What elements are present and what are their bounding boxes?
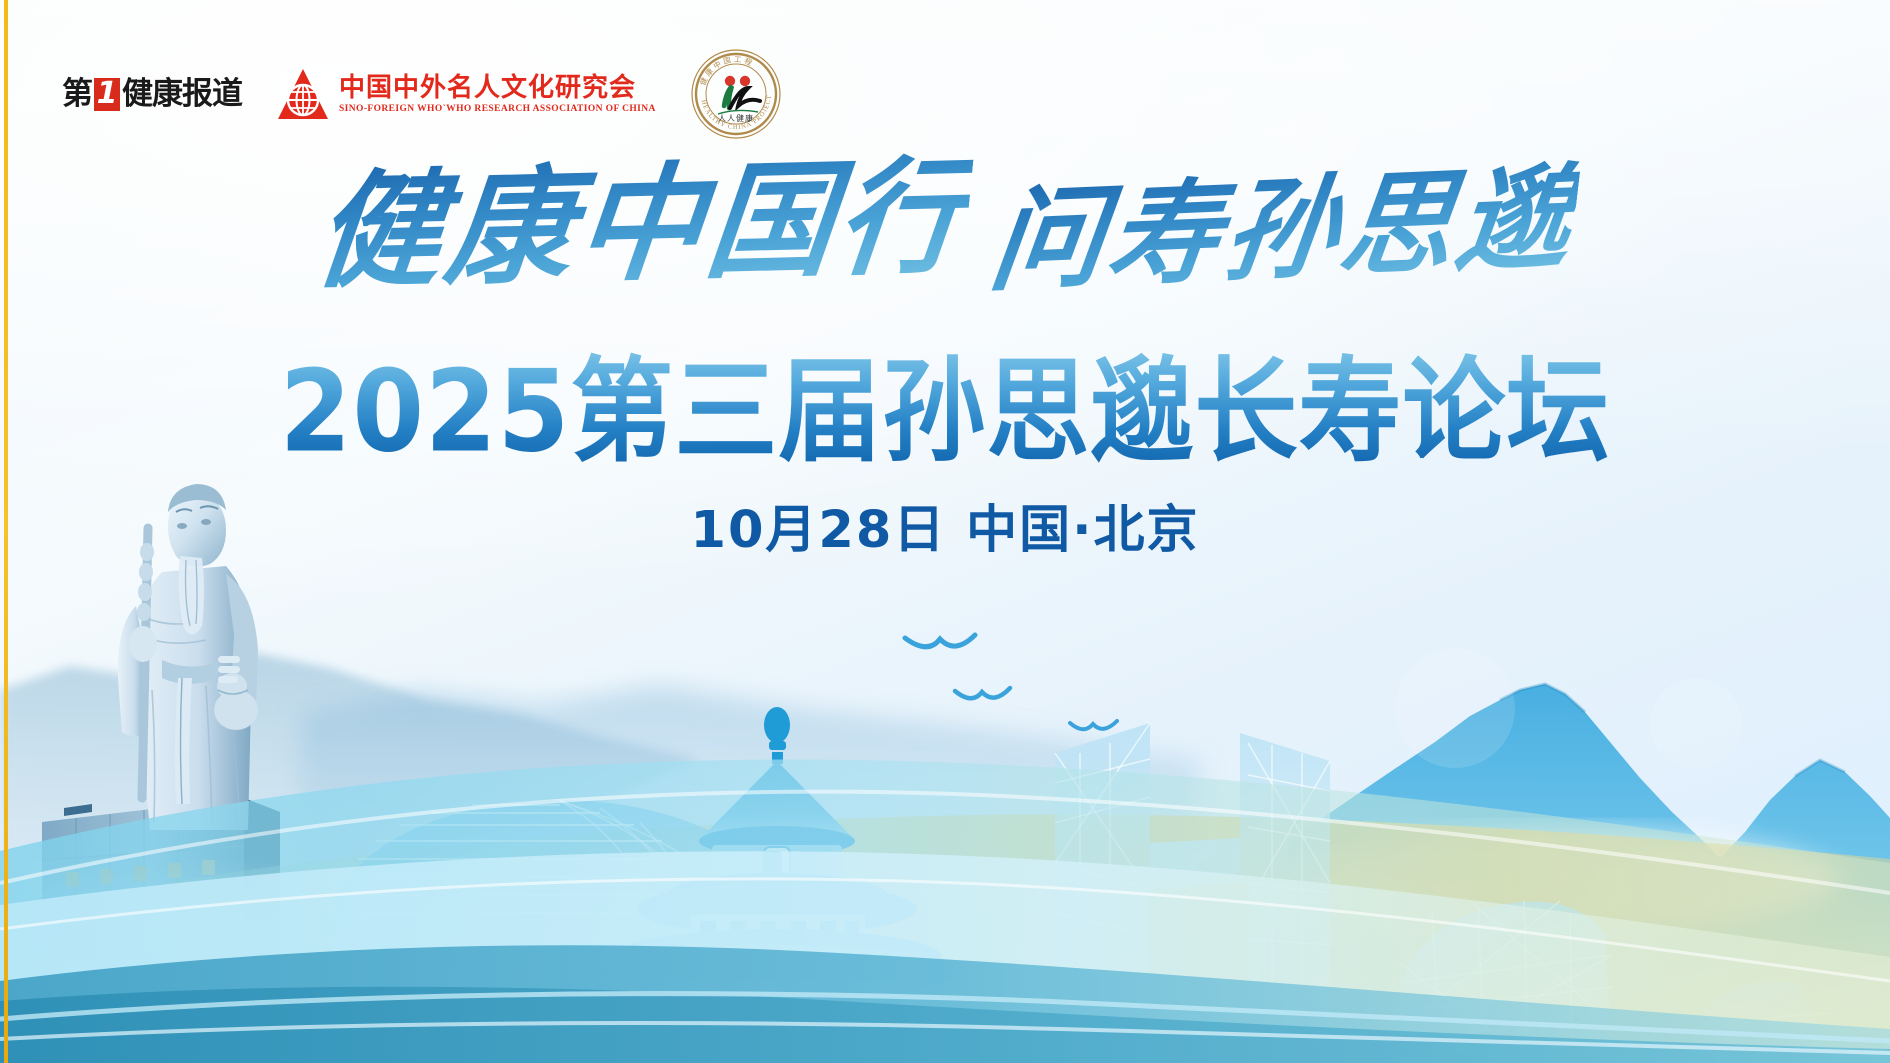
calligraphy-part1: 健康中国行 xyxy=(309,142,975,307)
logo-sino-foreign-association[interactable]: 中国中外名人文化研究会 SINO-FOREIGN WHO`WHO RESEARC… xyxy=(276,67,656,121)
main-title-text: 2025第三届孙思邈长寿论坛 xyxy=(280,346,1611,480)
date-location-text: 10月28日 中国·北京 xyxy=(690,488,1199,562)
calligraphy-part2: 问寿孙思邈 xyxy=(984,152,1583,308)
calligraphy-headline: 健康中国行问寿孙思邈 xyxy=(0,150,1890,299)
logo-healthy-china-project[interactable]: 健康中国工程 HEALTHY CHINA PROJECT 人人健康 xyxy=(690,48,782,140)
logo-association-cn: 中国中外名人文化研究会 xyxy=(339,75,656,101)
logo-association-en: SINO-FOREIGN WHO`WHO RESEARCH ASSOCIATIO… xyxy=(339,104,656,114)
bird-icon xyxy=(955,688,1010,698)
main-title-block: 2025第三届孙思邈长寿论坛 xyxy=(0,352,1890,474)
bird-icon xyxy=(1070,721,1117,729)
left-gold-stripe xyxy=(4,0,8,1063)
logo-prefix-text: 第 xyxy=(62,79,92,110)
logo-numeral-badge: 1 xyxy=(94,78,120,111)
poster-canvas: 第 1 健康报道 中国中外名人文化研究会 SINO-FOREIGN WHO`WH xyxy=(0,0,1890,1063)
globe-in-a-icon xyxy=(276,67,330,121)
logo-suffix-text: 健康报道 xyxy=(122,79,242,110)
wave-ribbon-layer xyxy=(0,733,1890,1063)
seal-center-text: 人人健康 xyxy=(718,113,754,123)
bird-icon xyxy=(905,635,975,647)
date-location-block: 10月28日 中国·北京 xyxy=(0,488,1890,562)
logo-first-health-report[interactable]: 第 1 健康报道 xyxy=(62,78,242,111)
sponsor-logo-bar: 第 1 健康报道 中国中外名人文化研究会 SINO-FOREIGN WHO`WH xyxy=(62,48,782,140)
